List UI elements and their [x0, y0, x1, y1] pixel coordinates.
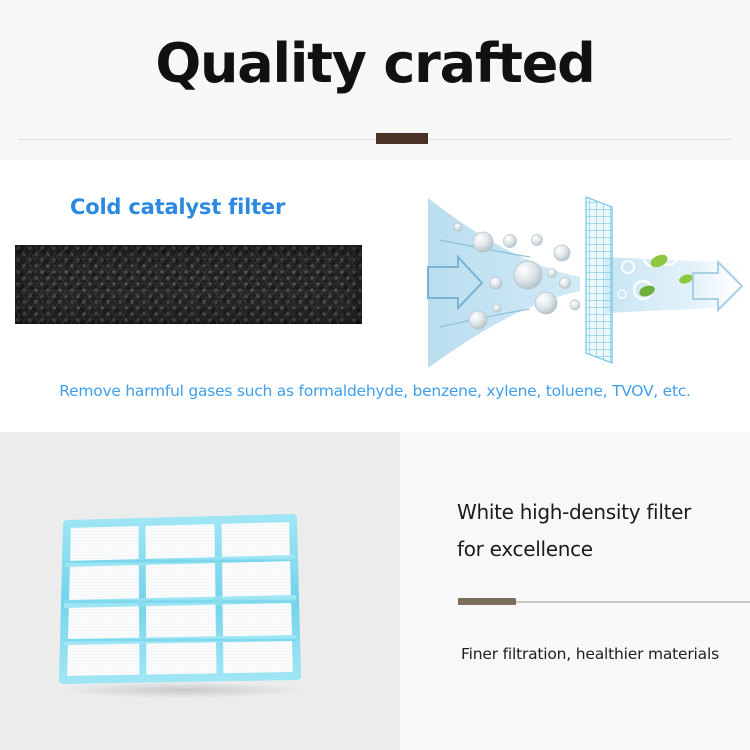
high-density-heading-line1: White high-density filter: [457, 494, 747, 531]
cold-catalyst-heading: Cold catalyst filter: [70, 195, 285, 219]
header-band: Quality crafted: [0, 0, 750, 160]
high-density-heading: White high-density filter for excellence: [457, 494, 747, 568]
filter-image-panel: [0, 432, 400, 750]
header-divider: [18, 139, 732, 140]
high-density-caption: Finer filtration, healthier materials: [430, 645, 750, 663]
white-high-density-filter: [55, 504, 305, 694]
filter-mesh-screen: [586, 197, 612, 363]
product-feature-page: Quality crafted Cold catalyst filter: [0, 0, 750, 750]
filter-rib-horizontal: [64, 599, 296, 604]
cold-catalyst-caption: Remove harmful gases such as formaldehyd…: [0, 382, 750, 400]
high-density-accent-bar: [458, 598, 516, 605]
high-density-text-panel: White high-density filter for excellence…: [400, 432, 750, 750]
dirty-airflow-stream: [428, 198, 580, 368]
clean-airflow-stream: [605, 257, 740, 313]
header-accent-bar: [376, 133, 428, 144]
filter-drop-shadow: [63, 682, 301, 698]
high-density-section: White high-density filter for excellence…: [0, 432, 750, 750]
cold-catalyst-section: Cold catalyst filter: [0, 160, 750, 432]
honeycomb-carbon-panel: [15, 245, 362, 324]
page-title: Quality crafted: [0, 36, 750, 93]
airflow-filtration-diagram: [400, 195, 750, 370]
high-density-heading-line2: for excellence: [457, 531, 747, 568]
filter-rib-horizontal: [64, 638, 296, 642]
